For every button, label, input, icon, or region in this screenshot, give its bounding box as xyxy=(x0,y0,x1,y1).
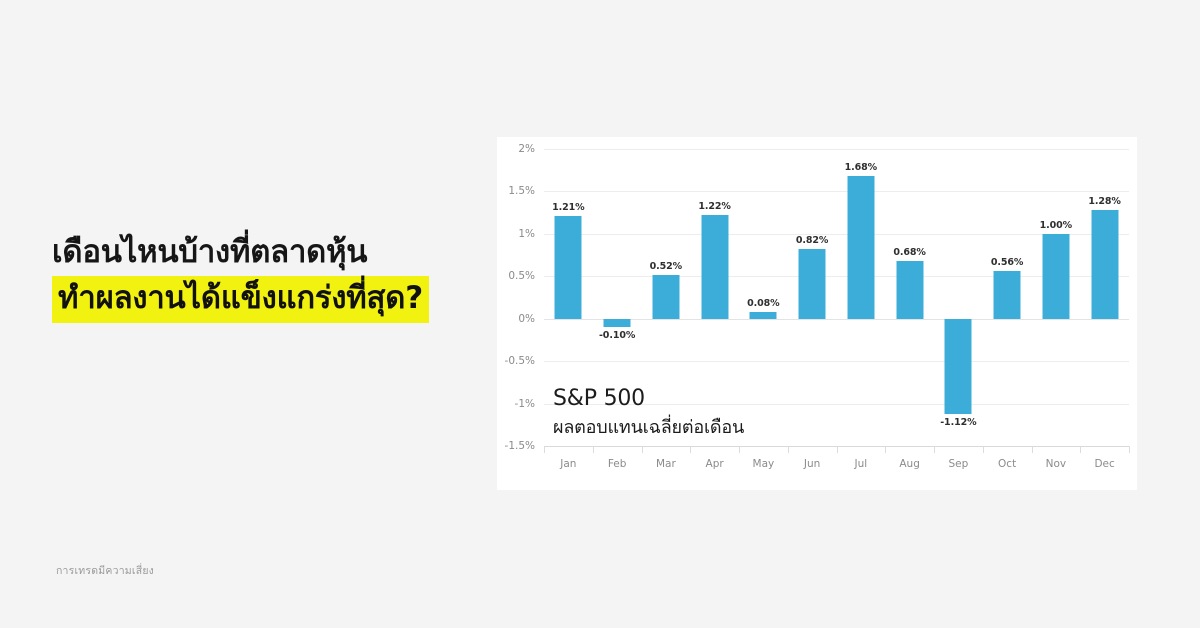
headline-line-1: เดือนไหนบ้างที่ตลาดหุ้น xyxy=(52,232,472,272)
bar-jun[interactable] xyxy=(799,249,826,319)
y-axis-tick-label: 0% xyxy=(518,313,535,325)
bar-slot: 1.28% xyxy=(1080,149,1129,446)
bar-slot: 1.68% xyxy=(837,149,886,446)
y-axis-tick-label: -0.5% xyxy=(505,355,535,367)
bar-value-label-dec: 1.28% xyxy=(1088,196,1120,207)
bar-slot: 0.56% xyxy=(983,149,1032,446)
bar-sep[interactable] xyxy=(945,319,972,414)
x-axis-tickmark xyxy=(1129,446,1130,453)
y-axis-tick-label: -1.5% xyxy=(505,440,535,452)
bar-value-label-mar: 0.52% xyxy=(650,261,682,272)
x-axis-label-jul: Jul xyxy=(855,458,868,470)
headline-block: เดือนไหนบ้างที่ตลาดหุ้น ทำผลงานได้แข็งแก… xyxy=(52,232,472,323)
x-axis-tickmark xyxy=(837,446,838,453)
bar-value-label-feb: -0.10% xyxy=(599,330,635,341)
bar-dec[interactable] xyxy=(1091,210,1118,319)
bar-nov[interactable] xyxy=(1042,234,1069,319)
bar-aug[interactable] xyxy=(896,261,923,319)
y-axis-tick-label: -1% xyxy=(515,398,535,410)
headline-line-2-highlighted: ทำผลงานได้แข็งแกร่งที่สุด? xyxy=(52,276,429,323)
bar-value-label-oct: 0.56% xyxy=(991,257,1023,268)
x-axis-label-apr: Apr xyxy=(706,458,724,470)
bar-jan[interactable] xyxy=(555,216,582,319)
x-axis-label-jun: Jun xyxy=(804,458,820,470)
y-axis-tick-label: 2% xyxy=(518,143,535,155)
bar-value-label-jan: 1.21% xyxy=(552,202,584,213)
bar-value-label-may: 0.08% xyxy=(747,298,779,309)
bar-apr[interactable] xyxy=(701,215,728,319)
bar-slot: -1.12% xyxy=(934,149,983,446)
caption-title: S&P 500 xyxy=(553,385,744,413)
bar-jul[interactable] xyxy=(847,176,874,319)
bar-mar[interactable] xyxy=(652,275,679,319)
y-axis-tick-label: 1% xyxy=(518,228,535,240)
x-axis-tickmark xyxy=(544,446,545,453)
headline-line-2-wrapper: ทำผลงานได้แข็งแกร่งที่สุด? xyxy=(52,276,472,323)
bar-slot: 0.82% xyxy=(788,149,837,446)
x-axis-label-nov: Nov xyxy=(1046,458,1067,470)
x-axis-label-sep: Sep xyxy=(948,458,968,470)
chart-caption: S&P 500 ผลตอบแทนเฉลี่ยต่อเดือน xyxy=(553,385,744,440)
x-axis-label-mar: Mar xyxy=(656,458,676,470)
chart-panel: 2%1.5%1%0.5%0%-0.5%-1%-1.5% 1.21%-0.10%0… xyxy=(497,137,1137,490)
bar-slot: 0.68% xyxy=(885,149,934,446)
bar-feb[interactable] xyxy=(604,319,631,327)
x-axis-label-jan: Jan xyxy=(560,458,576,470)
x-axis-tickmark xyxy=(885,446,886,453)
bar-value-label-jun: 0.82% xyxy=(796,235,828,246)
x-axis-label-dec: Dec xyxy=(1094,458,1114,470)
bar-value-label-jul: 1.68% xyxy=(845,162,877,173)
bar-value-label-apr: 1.22% xyxy=(698,201,730,212)
x-axis-tickmark xyxy=(983,446,984,453)
x-axis-tickmark xyxy=(690,446,691,453)
x-axis-label-may: May xyxy=(753,458,775,470)
x-axis-tickmark xyxy=(934,446,935,453)
x-axis-label-oct: Oct xyxy=(998,458,1016,470)
x-axis-tickmark xyxy=(1032,446,1033,453)
bar-oct[interactable] xyxy=(994,271,1021,319)
caption-subtitle: ผลตอบแทนเฉลี่ยต่อเดือน xyxy=(553,416,744,440)
x-axis-tickmark xyxy=(593,446,594,453)
bar-value-label-sep: -1.12% xyxy=(940,417,976,428)
bar-slot: 0.08% xyxy=(739,149,788,446)
bar-may[interactable] xyxy=(750,312,777,319)
bar-value-label-nov: 1.00% xyxy=(1040,220,1072,231)
x-axis-tickmark xyxy=(1080,446,1081,453)
y-axis-tick-label: 0.5% xyxy=(508,270,535,282)
disclaimer-text: การเทรดมีความเสี่ยง xyxy=(56,562,154,579)
x-axis-label-feb: Feb xyxy=(608,458,627,470)
x-axis-label-aug: Aug xyxy=(899,458,920,470)
x-axis-tickmark xyxy=(642,446,643,453)
x-axis-tickmark xyxy=(788,446,789,453)
bar-value-label-aug: 0.68% xyxy=(893,247,925,258)
y-axis-tick-label: 1.5% xyxy=(508,185,535,197)
x-axis-tickmark xyxy=(739,446,740,453)
bar-slot: 1.00% xyxy=(1032,149,1081,446)
